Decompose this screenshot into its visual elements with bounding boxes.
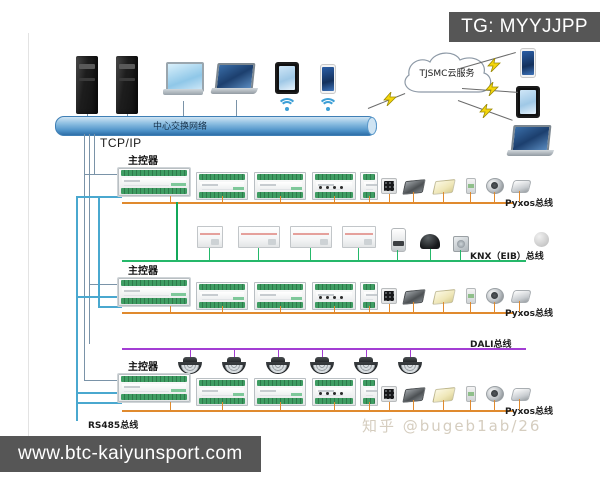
round-sensor-r1 xyxy=(486,178,504,194)
central-switch-network-label: 中心交换网络 xyxy=(120,119,240,132)
device-drop xyxy=(430,249,431,260)
device-drop xyxy=(413,192,414,202)
bar-end-cap xyxy=(367,117,377,135)
keyboard-base xyxy=(163,89,203,95)
trunk-branch-row3 xyxy=(84,380,122,381)
bus-drop xyxy=(369,402,370,410)
device-drop xyxy=(443,302,444,312)
box-sensor-r3 xyxy=(510,388,531,401)
tablet-top xyxy=(275,62,299,94)
keypad-panel-r1 xyxy=(381,178,397,194)
desktop-pc xyxy=(166,62,204,92)
cloud-client-smartphone xyxy=(520,48,536,78)
square-sensor-knx xyxy=(453,236,469,252)
device-drop xyxy=(519,399,520,410)
smartphone-top xyxy=(320,64,336,94)
trunk-wire-c xyxy=(94,134,95,174)
bus-drop xyxy=(170,306,171,312)
dali-bus-line xyxy=(122,348,526,350)
bus-drop xyxy=(334,306,335,312)
downlight-4 xyxy=(310,357,334,374)
tcpip-label: TCP/IP xyxy=(100,136,142,150)
bus-drop xyxy=(222,306,223,312)
device-drop xyxy=(460,250,461,260)
bus-drop xyxy=(280,402,281,410)
controller-label-row3: 主控器 xyxy=(128,358,158,373)
main-controller-row3 xyxy=(118,374,190,402)
bus-drop xyxy=(310,248,311,260)
page-root: TJSMC云服务 中心交换网络 TCP/IP R xyxy=(0,0,600,480)
bus-drop xyxy=(369,196,370,202)
downlight-5 xyxy=(354,357,378,374)
pyxos-bus-label-1: Pyxos总线 xyxy=(505,196,553,209)
knx-bus-line xyxy=(122,260,526,262)
bus-drop xyxy=(334,196,335,202)
grey-dot-knx xyxy=(534,232,549,247)
bus-drop xyxy=(222,196,223,202)
device-drop xyxy=(494,192,495,202)
bus-drop xyxy=(334,402,335,410)
pyxos-bus-line-3 xyxy=(122,410,514,412)
small-sensor-r3 xyxy=(466,386,476,402)
downlight-2 xyxy=(222,357,246,374)
bus-drop xyxy=(258,248,259,260)
controller-label-row2: 主控器 xyxy=(128,262,158,277)
device-drop xyxy=(443,400,444,410)
laptop-screen xyxy=(215,63,256,91)
main-controller-row1 xyxy=(118,168,190,196)
tablet-screen xyxy=(520,90,536,114)
pyxos-bus-line-2 xyxy=(122,312,514,314)
knx-module-4 xyxy=(342,226,376,248)
rs485-branch-row2b xyxy=(76,296,122,298)
box-sensor-r1 xyxy=(510,180,531,193)
trunk-wire-b xyxy=(89,134,90,344)
rs485-trunk-mid xyxy=(98,196,100,306)
lightning-icon-4 xyxy=(382,92,398,106)
rs485-trunk-main xyxy=(76,196,78,421)
knx-module-3 xyxy=(290,226,332,248)
laptop-keyboard xyxy=(506,150,554,156)
bus-drop xyxy=(222,402,223,410)
knx-feed-vertical xyxy=(176,202,178,260)
server-tower-1 xyxy=(76,56,98,114)
knx-module-2 xyxy=(238,226,280,248)
small-sensor-r2 xyxy=(466,288,476,304)
downlight-1 xyxy=(178,357,202,374)
device-drop xyxy=(519,191,520,202)
wifi-icon-tablet xyxy=(277,98,297,112)
wifi-icon-phone xyxy=(318,98,338,112)
lightning-icon-3 xyxy=(478,104,494,118)
trunk-branch-row1 xyxy=(84,174,122,175)
round-sensor-r2 xyxy=(486,288,504,304)
knx-module-1 xyxy=(197,226,223,248)
cylinder-sensor-knx xyxy=(391,228,406,252)
device-drop xyxy=(470,400,471,410)
device-drop xyxy=(413,302,414,312)
cloud-client-tablet xyxy=(516,86,540,118)
bus-drop xyxy=(170,196,171,202)
laptop-screen xyxy=(511,125,552,153)
main-controller-row2 xyxy=(118,278,190,306)
bus-drop xyxy=(280,196,281,202)
controller-label-row1: 主控器 xyxy=(128,152,158,167)
server-tower-2 xyxy=(116,56,138,114)
small-sensor-r1 xyxy=(466,178,476,194)
dome-sensor-knx xyxy=(420,234,440,249)
bus-drop xyxy=(209,248,210,260)
device-drop xyxy=(389,304,390,312)
phone-screen xyxy=(522,51,534,75)
keypad-panel-r3 xyxy=(381,386,397,402)
telegram-badge: TG: MYYJJPP xyxy=(449,12,600,42)
monitor-screen xyxy=(166,62,204,92)
device-drop xyxy=(494,400,495,410)
device-drop xyxy=(413,400,414,410)
lightning-icon-2 xyxy=(484,82,500,96)
device-drop xyxy=(494,302,495,312)
dali-bus-label: DALI总线 xyxy=(470,337,512,350)
device-drop xyxy=(397,250,398,260)
knx-bus-label: KNX（EIB）总线 xyxy=(470,249,544,262)
keypad-panel-r2 xyxy=(381,288,397,304)
laptop-top xyxy=(216,63,254,91)
device-drop xyxy=(470,192,471,202)
device-drop xyxy=(470,302,471,312)
bus-drop xyxy=(358,248,359,260)
tablet-screen xyxy=(279,66,295,90)
downlight-6 xyxy=(398,357,422,374)
rs485-branch-row3b xyxy=(76,402,122,404)
box-sensor-r2 xyxy=(510,290,531,303)
cloud-client-laptop xyxy=(512,125,550,153)
bus-drop xyxy=(280,306,281,312)
bus-drop xyxy=(369,306,370,312)
pyxos-bus-line-1 xyxy=(122,202,514,204)
downlight-3 xyxy=(266,357,290,374)
device-drop xyxy=(519,301,520,312)
laptop-keyboard xyxy=(210,88,258,94)
site-url-badge: www.btc-kaiyunsport.com xyxy=(0,436,261,472)
device-drop xyxy=(389,402,390,410)
phone-screen xyxy=(322,67,334,91)
round-sensor-r3 xyxy=(486,386,504,402)
rs485-branch-row2 xyxy=(98,306,122,308)
rs485-bus-label: RS485总线 xyxy=(88,418,138,431)
pyxos-bus-label-2: Pyxos总线 xyxy=(505,306,553,319)
device-drop xyxy=(389,194,390,202)
bus-drop xyxy=(170,402,171,410)
device-drop xyxy=(443,192,444,202)
trunk-wire-a xyxy=(84,134,85,380)
rs485-branch-row3 xyxy=(76,392,122,394)
zhihu-watermark: 知乎 @bugeb1ab/26 xyxy=(362,415,562,441)
lightning-icon-1 xyxy=(486,58,502,72)
cloud-label: TJSMC云服务 xyxy=(395,66,499,79)
